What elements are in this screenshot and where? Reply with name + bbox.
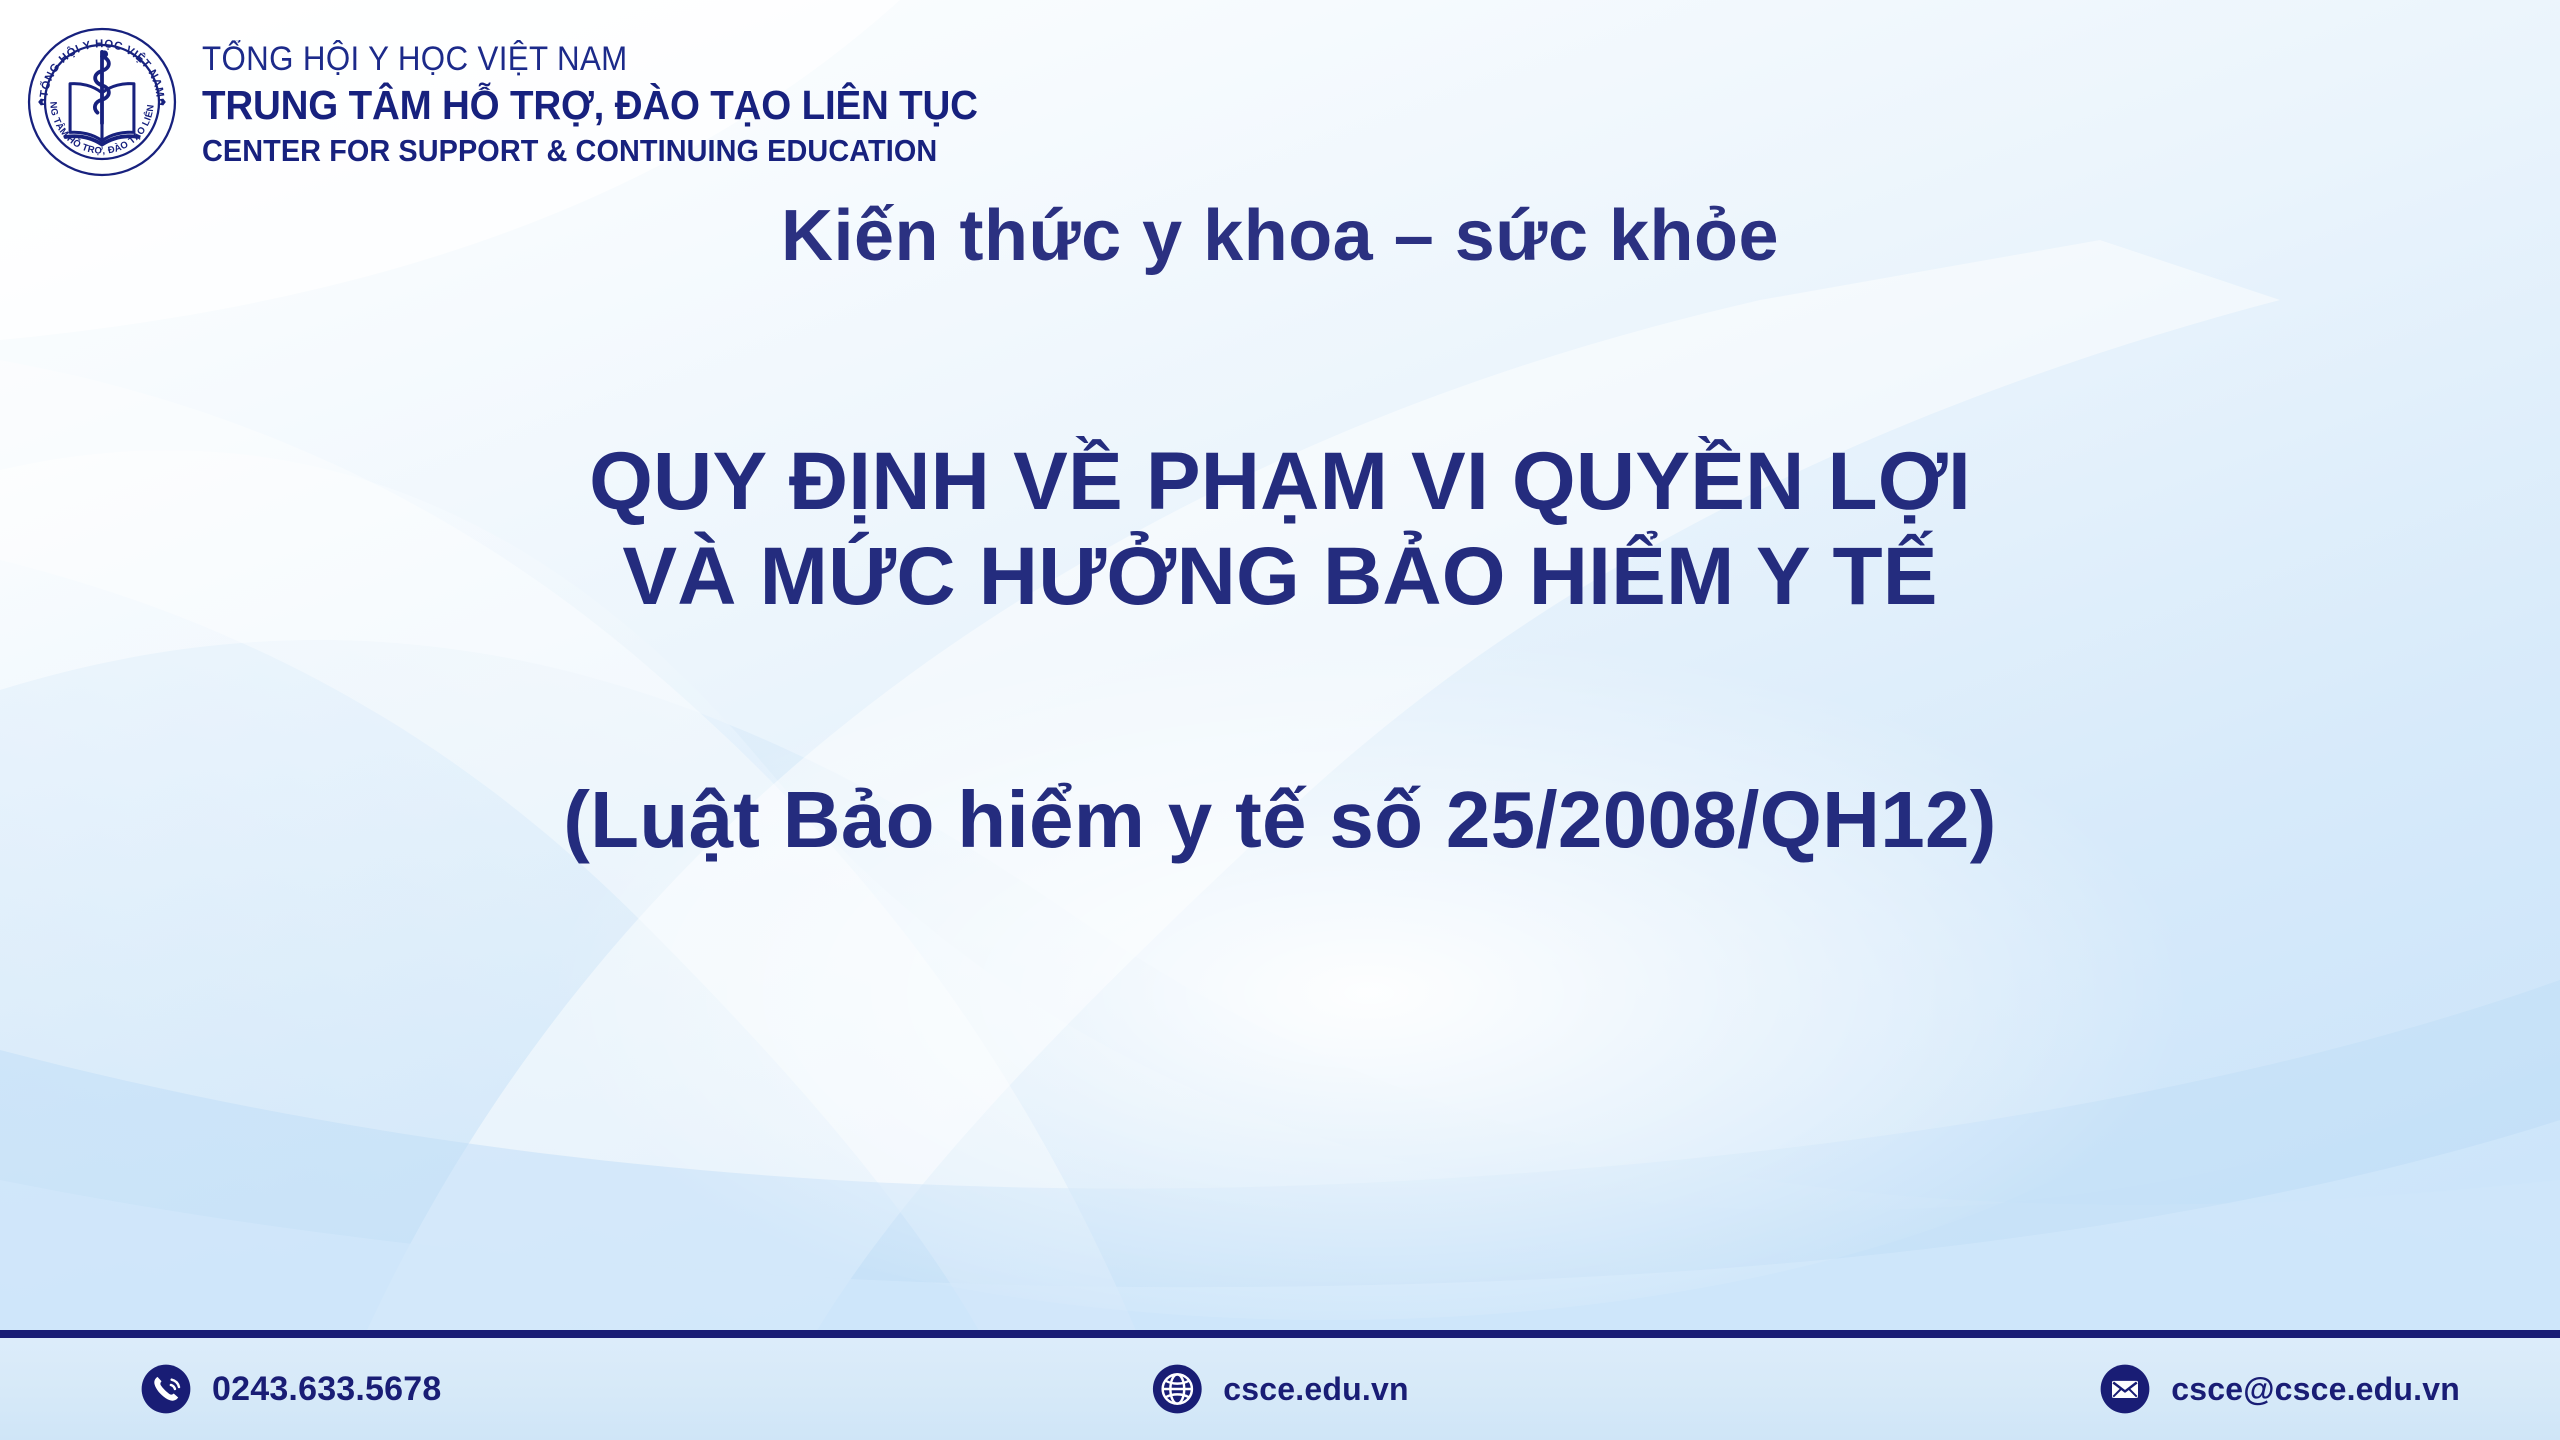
presentation-slide: TỔNG HỘI Y HỌC VIỆT NAM TRUNG TÂM HỖ TRỢ… [0, 0, 2560, 1440]
vmaa-circular-seal-icon: TỔNG HỘI Y HỌC VIỆT NAM TRUNG TÂM HỖ TRỢ… [26, 26, 178, 178]
brand-text-block: TỔNG HỘI Y HỌC VIỆT NAM TRUNG TÂM HỖ TRỢ… [202, 38, 1027, 166]
phone-call-icon [140, 1363, 192, 1415]
slide-title-line-1: QUY ĐỊNH VỀ PHẠM VI QUYỀN LỢI [0, 434, 2560, 529]
footer-phone-label: 0243.633.5678 [212, 1370, 442, 1409]
slide-kicker: Kiến thức y khoa – sức khỏe [0, 185, 2560, 279]
center-name-en: CENTER FOR SUPPORT & CONTINUING EDUCATIO… [202, 135, 970, 166]
footer-divider [0, 1330, 2560, 1338]
contact-footer: 0243.633.5678 csce.edu.vn csce@csce.edu.… [0, 1338, 2560, 1440]
slide-title-line-2: VÀ MỨC HƯỞNG BẢO HIỂM Y TẾ [0, 529, 2560, 624]
slide-content: Kiến thức y khoa – sức khỏe QUY ĐỊNH VỀ … [0, 185, 2560, 867]
footer-website-label: csce.edu.vn [1223, 1371, 1408, 1408]
globe-icon [1151, 1363, 1203, 1415]
envelope-icon [2099, 1363, 2151, 1415]
center-name-vi: TRUNG TÂM HỖ TRỢ, ĐÀO TẠO LIÊN TỤC [202, 85, 978, 126]
slide-law-reference: (Luật Bảo hiểm y tế số 25/2008/QH12) [0, 624, 2560, 867]
footer-phone[interactable]: 0243.633.5678 [140, 1363, 442, 1415]
brand-header: TỔNG HỘI Y HỌC VIỆT NAM TRUNG TÂM HỖ TRỢ… [26, 26, 1027, 178]
footer-email-label: csce@csce.edu.vn [2171, 1371, 2460, 1408]
slide-title: QUY ĐỊNH VỀ PHẠM VI QUYỀN LỢI VÀ MỨC HƯỞ… [0, 279, 2560, 624]
footer-website[interactable]: csce.edu.vn [1151, 1363, 1408, 1415]
organization-name: TỔNG HỘI Y HỌC VIỆT NAM [202, 42, 961, 76]
footer-email[interactable]: csce@csce.edu.vn [2099, 1363, 2460, 1415]
